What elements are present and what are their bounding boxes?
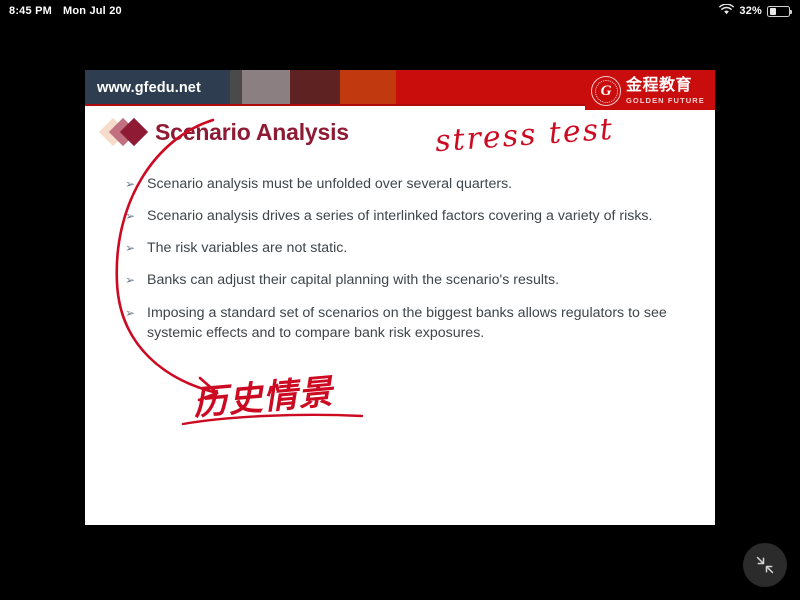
band-gray-dark: [230, 70, 242, 106]
brand-logo: G 金程教育 GOLDEN FUTURE: [585, 72, 715, 110]
minimize-button[interactable]: [743, 543, 787, 587]
status-bar-right: 32%: [719, 4, 800, 18]
logo-chinese-name: 金程教育: [626, 78, 705, 94]
slide-header-band: www.gfedu.net G 金程教育 GOLDEN FUTURE: [85, 70, 715, 106]
logo-text-block: 金程教育 GOLDEN FUTURE: [626, 78, 705, 105]
handwritten-stress-test-note: stress test: [434, 112, 615, 159]
battery-icon: [767, 6, 790, 17]
battery-percent-label: 32%: [739, 5, 762, 17]
band-gray: [242, 70, 290, 106]
status-bar-left: 8:45 PM Mon Jul 20: [0, 5, 122, 17]
handwritten-underline: [180, 410, 370, 430]
logo-english-name: GOLDEN FUTURE: [626, 97, 705, 105]
handwritten-curved-arrow-icon: [95, 108, 275, 408]
status-date: Mon Jul 20: [63, 5, 122, 17]
status-bar: 8:45 PM Mon Jul 20 32%: [0, 0, 800, 22]
band-orange: [340, 70, 396, 106]
band-maroon: [290, 70, 340, 106]
logo-seal-icon: G: [591, 76, 621, 106]
minimize-icon: [754, 554, 776, 576]
logo-seal-ring: [595, 80, 618, 103]
status-time: 8:45 PM: [9, 5, 52, 17]
presentation-slide[interactable]: www.gfedu.net G 金程教育 GOLDEN FUTURE Scena…: [85, 70, 715, 525]
wifi-icon: [719, 4, 734, 18]
battery-fill: [770, 8, 776, 15]
website-url-label: www.gfedu.net: [97, 80, 201, 96]
website-url-band: www.gfedu.net: [85, 70, 230, 106]
